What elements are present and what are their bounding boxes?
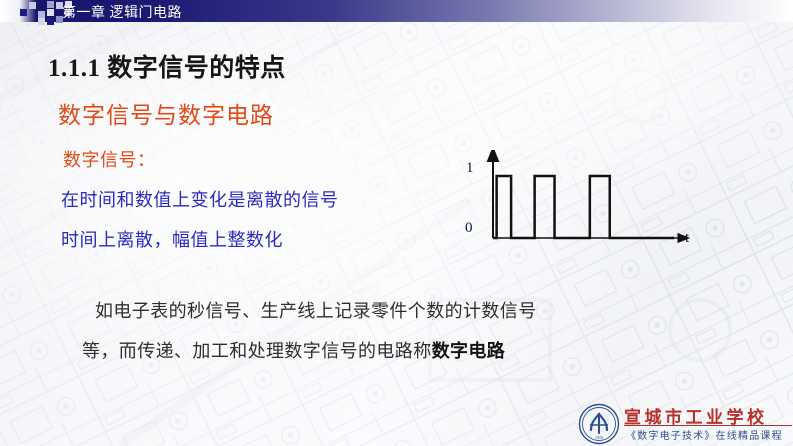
waveform-plot	[452, 150, 712, 255]
y-axis-tick-low: 0	[465, 220, 473, 237]
definition-line-2: 时间上离散，幅值上整数化	[61, 226, 283, 252]
definition-line-1: 在时间和数值上变化是离散的信号	[61, 186, 339, 212]
slide-canvas: 第一章 逻辑门电路 1.1.1 数字信号的特点 数字信号与数字电路 数字信号： …	[0, 0, 793, 446]
header-square-3	[38, 18, 45, 25]
definition-label: 数字信号：	[63, 146, 156, 172]
chapter-title: 第一章 逻辑门电路	[62, 2, 182, 22]
example-line-1: 如电子表的秒信号、生产线上记录零件个数的计数信号	[95, 297, 537, 323]
digital-signal-waveform-figure: 1 0 t	[452, 150, 712, 255]
header-square-1	[29, 2, 36, 9]
svg-text:1958: 1958	[595, 435, 603, 440]
footer-branding: 1958 宣城市工业学校 《数字电子技术》在线精品课程	[578, 401, 793, 446]
x-axis-label: t	[685, 230, 689, 247]
header-square-2	[38, 11, 45, 18]
section-subtitle: 数字信号与数字电路	[58, 96, 274, 130]
header-square-4	[47, 1, 54, 8]
course-name: 《数字电子技术》在线精品课程	[626, 427, 783, 442]
y-axis-tick-high: 1	[466, 160, 474, 177]
example-line-2-emphasis: 数字电路	[432, 341, 506, 361]
example-line-2: 等，而传递、加工和处理数字信号的电路称数字电路	[82, 337, 505, 363]
section-title: 1.1.1 数字信号的特点	[48, 48, 286, 84]
example-line-2-plain: 等，而传递、加工和处理数字信号的电路称	[82, 341, 432, 361]
header-square-10	[47, 18, 54, 25]
school-seal-icon: 1958	[578, 403, 620, 445]
school-name-underline	[624, 425, 792, 426]
square-wave-trace	[493, 176, 674, 238]
header-square-5	[47, 9, 54, 16]
header-square-0	[20, 9, 27, 16]
